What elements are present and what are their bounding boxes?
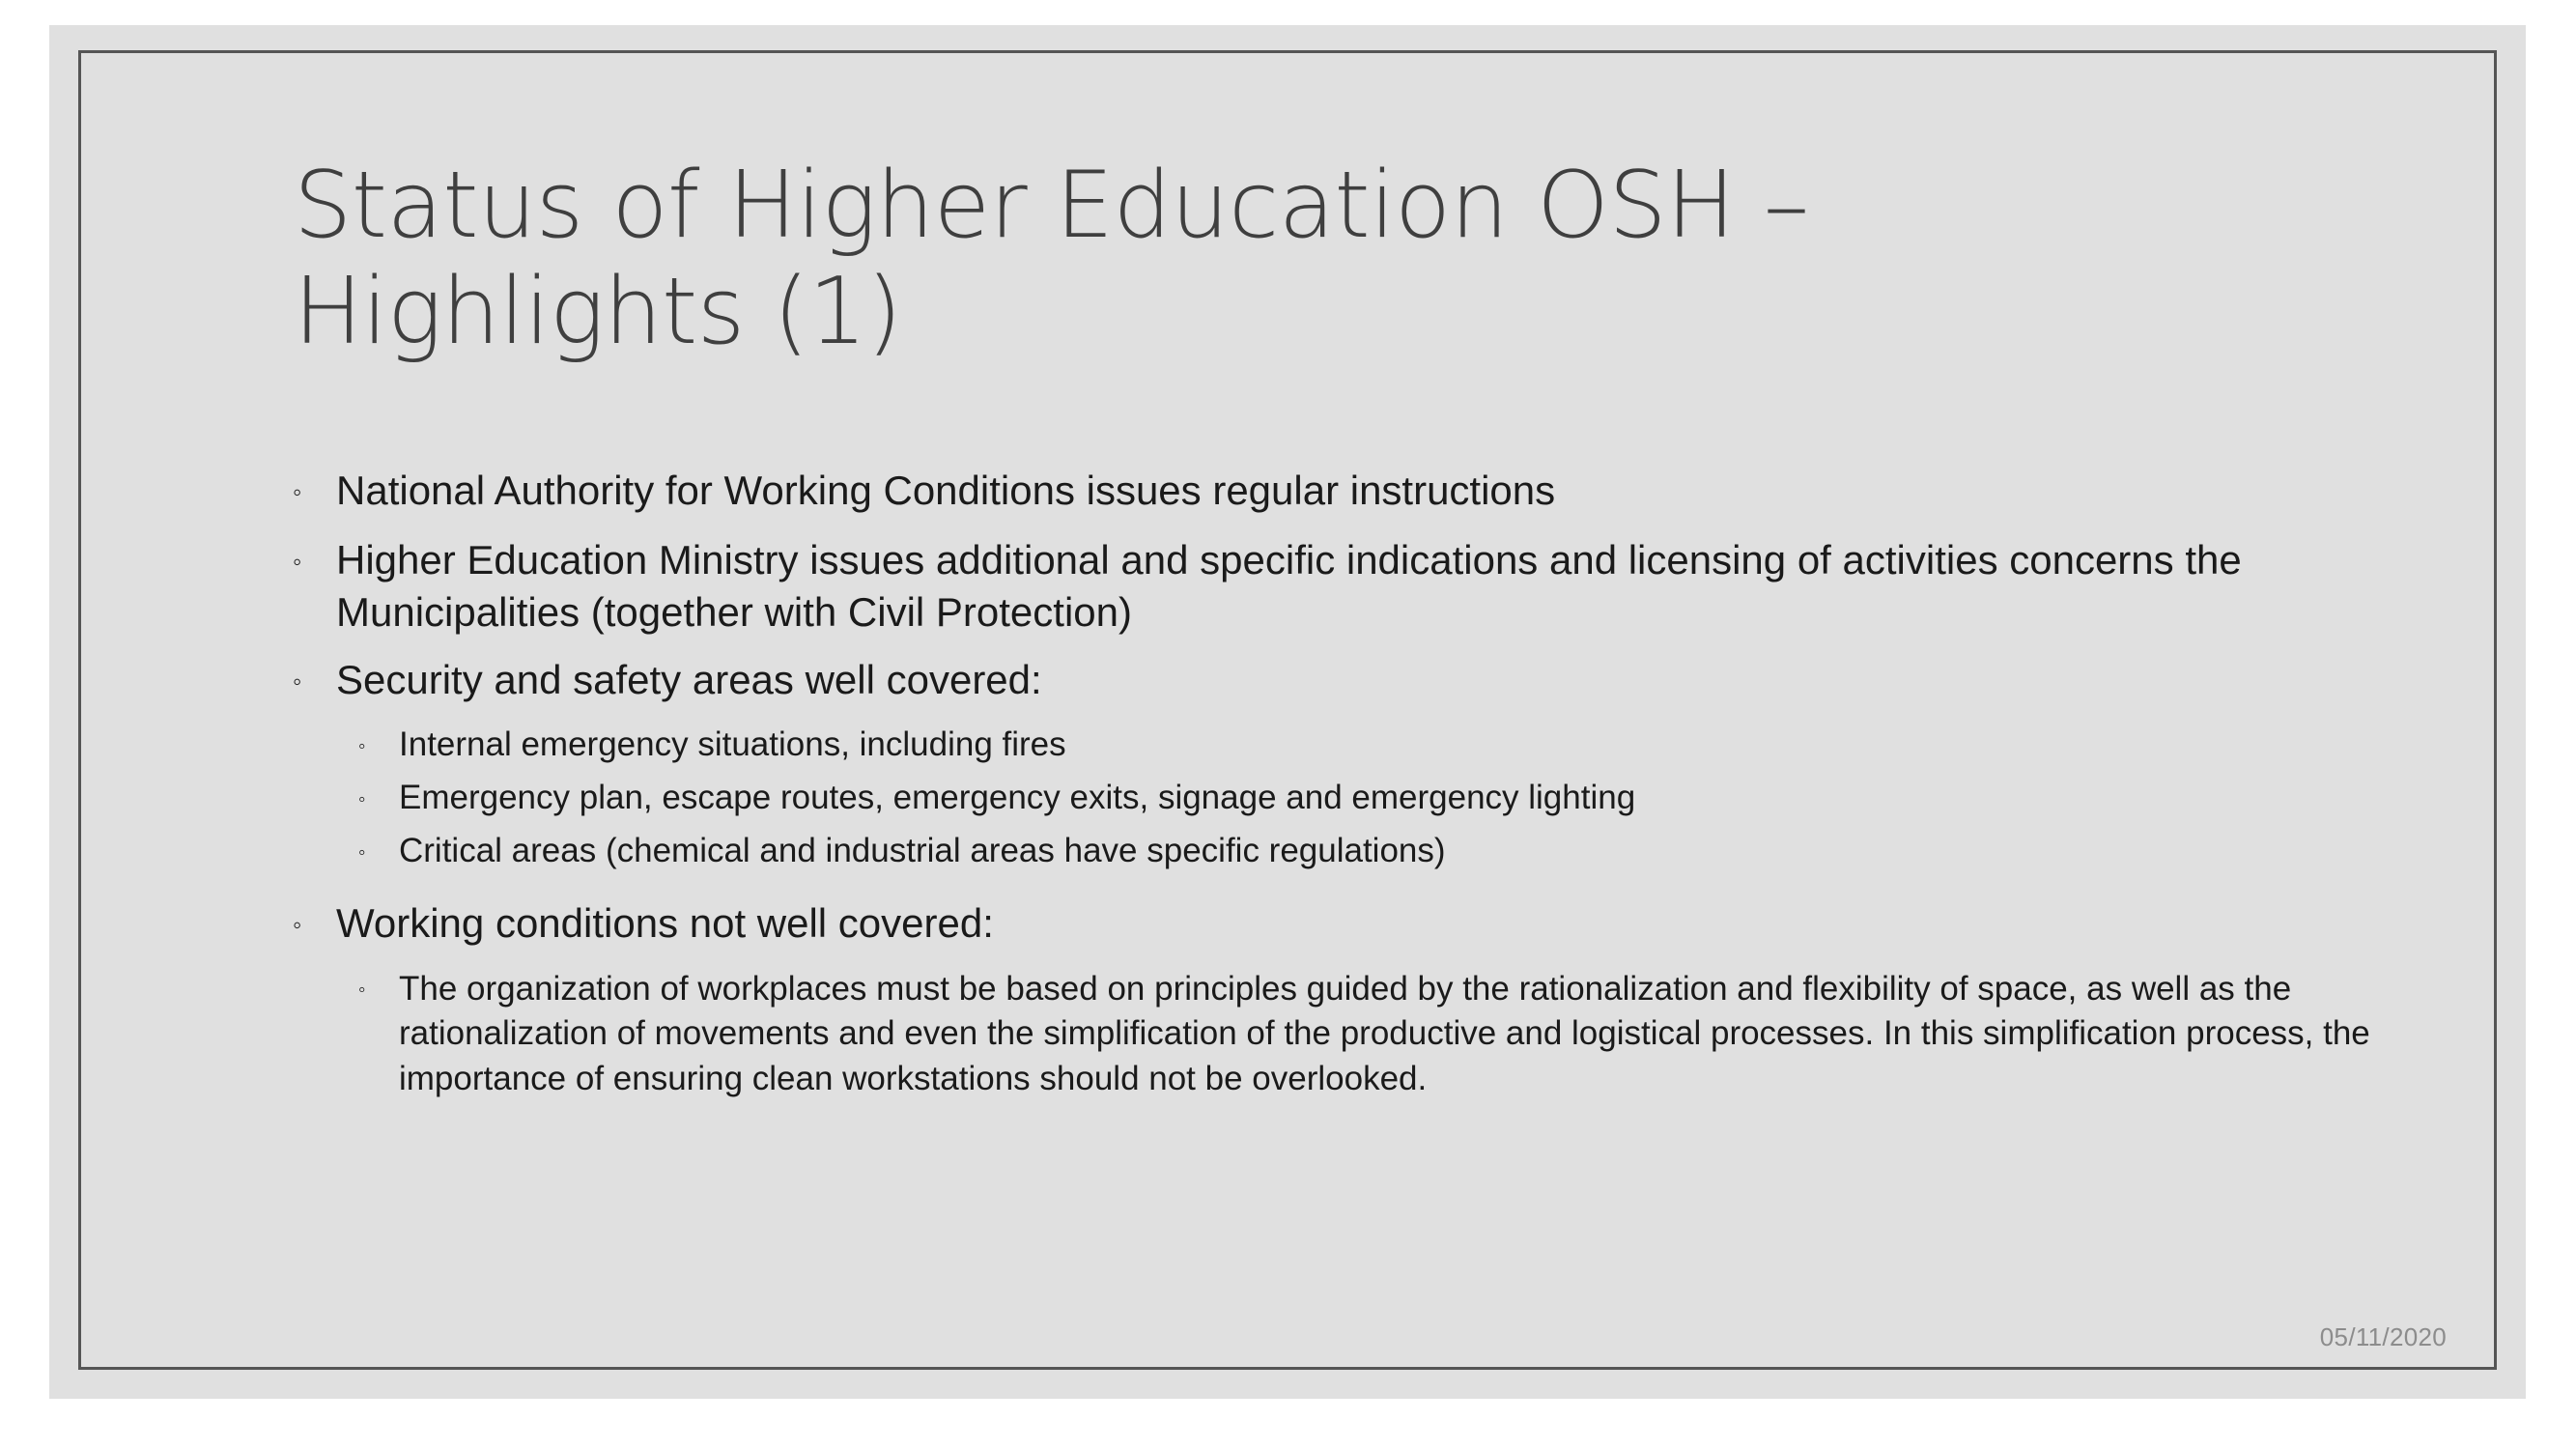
slide-canvas: Status of Higher Education OSH – Highlig… — [49, 25, 2526, 1399]
sublist-security-areas: ◦ Internal emergency situations, includi… — [356, 724, 2394, 876]
bullet-marker-icon: ◦ — [289, 534, 336, 588]
bullet-item-level2: ◦ Internal emergency situations, includi… — [356, 724, 2394, 770]
bullet-item-level2: ◦ Emergency plan, escape routes, emergen… — [356, 777, 2394, 823]
bullet-item-level2: ◦ The organization of workplaces must be… — [356, 967, 2394, 1102]
bullet-item-level1: ◦ Higher Education Ministry issues addit… — [289, 534, 2394, 639]
bullet-text: Internal emergency situations, including… — [399, 724, 2394, 766]
bullet-text: National Authority for Working Condition… — [336, 465, 2394, 517]
page-title: Status of Higher Education OSH – Highlig… — [294, 153, 2225, 365]
bullet-marker-icon: ◦ — [356, 830, 399, 876]
bullet-marker-icon: ◦ — [289, 654, 336, 708]
bullet-marker-icon: ◦ — [356, 724, 399, 770]
bullet-text: Critical areas (chemical and industrial … — [399, 830, 2394, 872]
bullet-text: Security and safety areas well covered: — [336, 654, 2394, 706]
bullet-marker-icon: ◦ — [356, 777, 399, 823]
sublist-working-conditions: ◦ The organization of workplaces must be… — [356, 967, 2394, 1102]
bullet-item-level2: ◦ Critical areas (chemical and industria… — [356, 830, 2394, 876]
bullet-text: The organization of workplaces must be b… — [399, 967, 2394, 1102]
bullet-marker-icon: ◦ — [289, 897, 336, 952]
slide-date-footer: 05/11/2020 — [2320, 1322, 2447, 1352]
slide-body-content: ◦ National Authority for Working Conditi… — [289, 465, 2394, 1111]
bullet-text: Working conditions not well covered: — [336, 897, 2394, 950]
bullet-item-level1: ◦ National Authority for Working Conditi… — [289, 465, 2394, 519]
bullet-item-level1: ◦ Working conditions not well covered: — [289, 897, 2394, 952]
bullet-marker-icon: ◦ — [289, 465, 336, 519]
bullet-marker-icon: ◦ — [356, 967, 399, 1013]
bullet-text: Emergency plan, escape routes, emergency… — [399, 777, 2394, 819]
bullet-item-level1: ◦ Security and safety areas well covered… — [289, 654, 2394, 708]
bullet-text: Higher Education Ministry issues additio… — [336, 534, 2394, 639]
